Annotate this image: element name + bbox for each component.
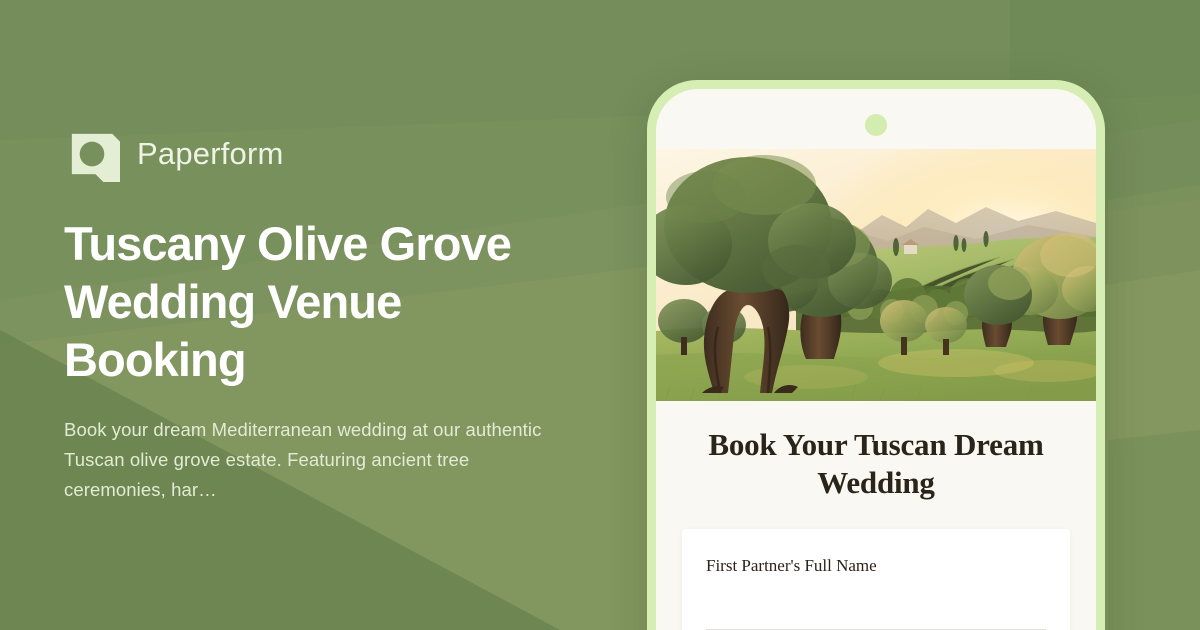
- form-field-card[interactable]: First Partner's Full Name: [682, 529, 1070, 630]
- page-title: Tuscany Olive Grove Wedding Venue Bookin…: [64, 215, 584, 389]
- phone-mockup: Book Your Tuscan Dream Wedding First Par…: [647, 80, 1105, 630]
- hero-description: Book your dream Mediterranean wedding at…: [64, 415, 554, 505]
- background-panel-right-bottom: [1108, 430, 1200, 630]
- paperform-rosette-icon: [64, 126, 120, 182]
- field-label-first-partner-name: First Partner's Full Name: [706, 555, 1046, 577]
- form-title: Book Your Tuscan Dream Wedding: [656, 426, 1096, 502]
- camera-dot-icon: [865, 114, 887, 136]
- form-hero-image: [656, 149, 1096, 401]
- hero-content: Paperform Tuscany Olive Grove Wedding Ve…: [64, 0, 604, 630]
- background-panel-right-mid: [1108, 185, 1200, 455]
- brand-name: Paperform: [137, 138, 284, 169]
- phone-screen: Book Your Tuscan Dream Wedding First Par…: [656, 89, 1096, 630]
- olive-grove-sunset-illustration: [656, 149, 1096, 401]
- brand-lockup: Paperform: [64, 126, 604, 182]
